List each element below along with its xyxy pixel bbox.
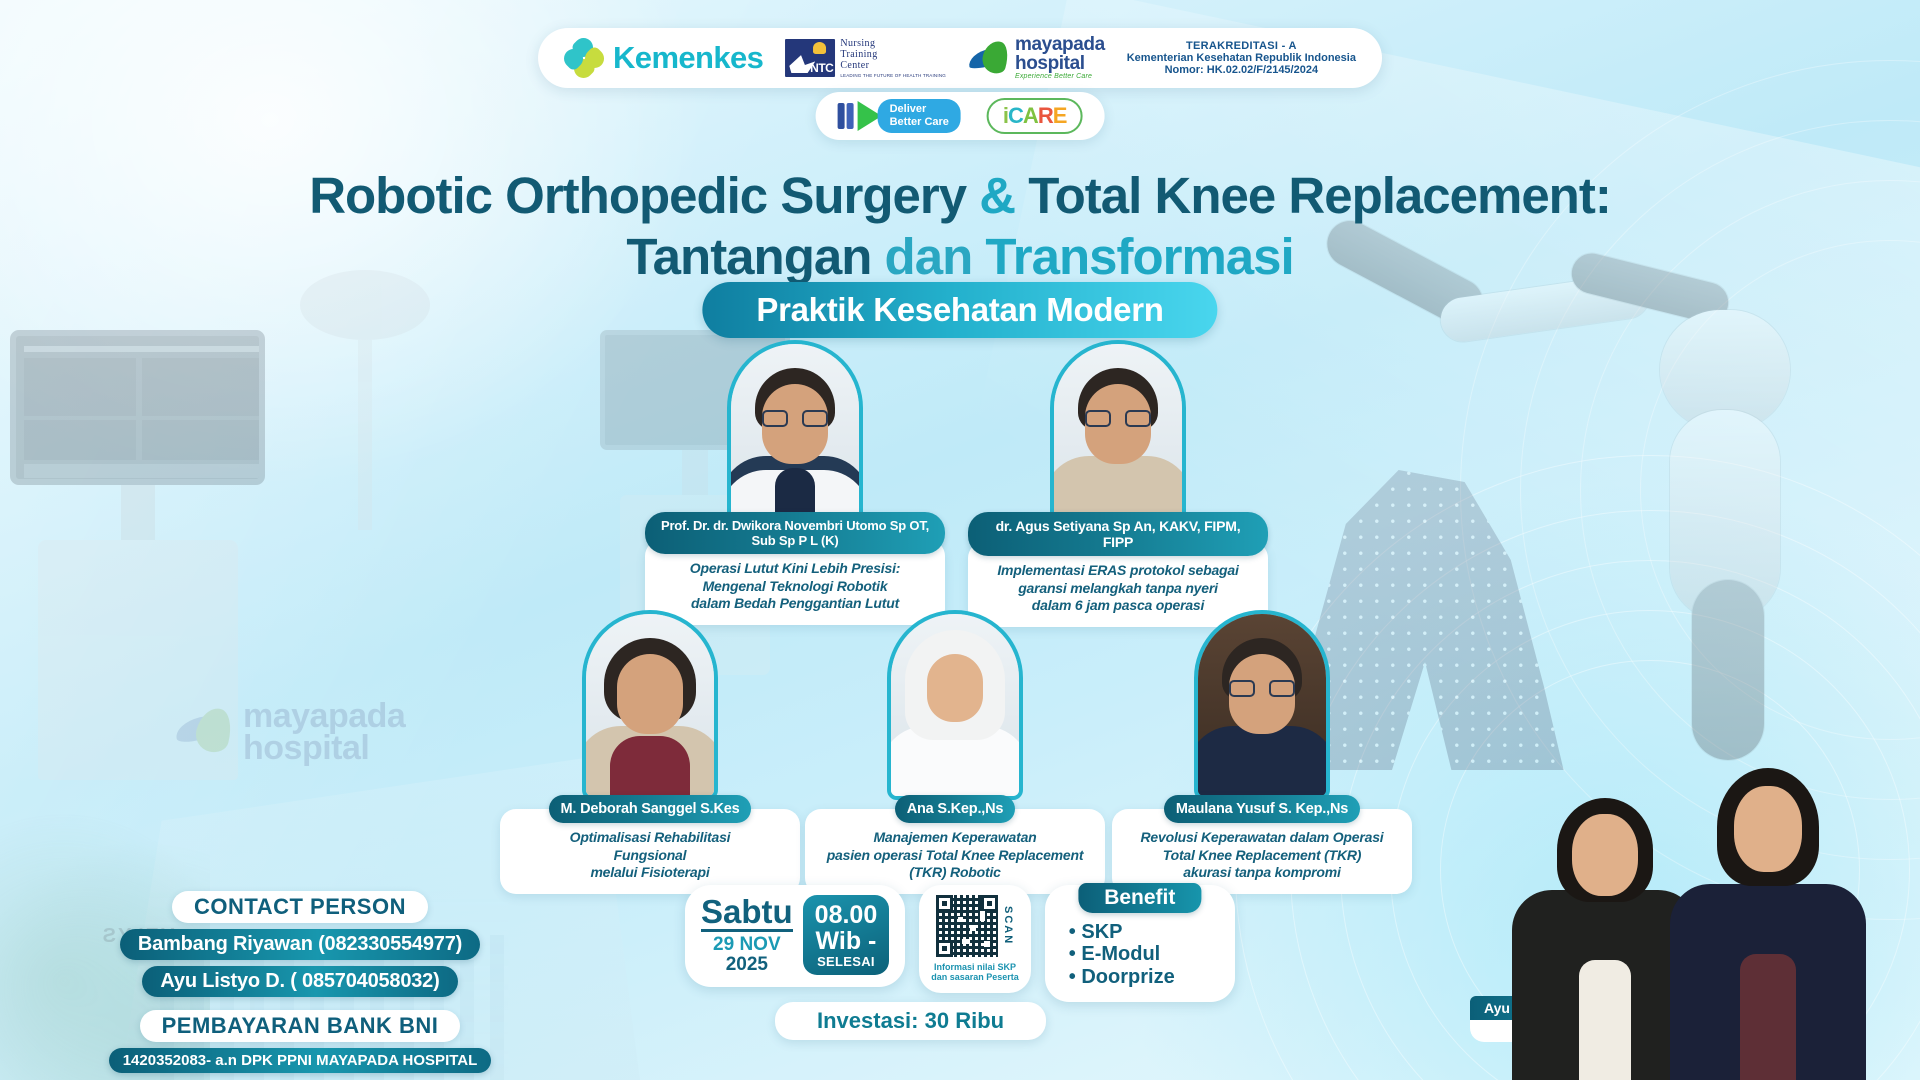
- mayapada-tagline: Experience Better Care: [1015, 73, 1105, 80]
- poster-root: mayapada hospital VELYS: [0, 0, 1920, 1080]
- event-time-start: 08.00: [815, 902, 878, 928]
- qr-row: SCAN: [936, 895, 1014, 957]
- speaker-1-name: Prof. Dr. dr. Dwikora Novembri Utomo Sp …: [645, 512, 945, 554]
- ntc-abbr: NTC: [810, 61, 833, 75]
- speaker-5-topic-line-2: Total Knee Replacement (TKR): [1126, 847, 1398, 865]
- badge-icare: iCARE: [987, 98, 1082, 134]
- event-date-text: Sabtu 29 NOV 2025: [701, 895, 793, 975]
- speaker-4-topic-line-3: (TKR) Robotic: [819, 864, 1091, 882]
- speaker-1-photo: [727, 340, 863, 530]
- accreditation-line-3: Nomor: HK.02.02/F/2145/2024: [1127, 64, 1356, 76]
- kemenkes-clover-icon: [564, 38, 604, 78]
- speaker-4-photo: [887, 610, 1023, 800]
- hosts-section: [1500, 750, 1920, 1080]
- accreditation-block: TERAKREDITASI - A Kementerian Kesehatan …: [1127, 40, 1356, 76]
- qr-scan-label: SCAN: [1002, 906, 1014, 945]
- logo-kemenkes: Kemenkes: [564, 38, 763, 78]
- mayapada-line-1: mayapada: [1015, 36, 1105, 55]
- ntc-crest-icon: NTC: [785, 39, 835, 77]
- speaker-4-topic-line-1: Manajemen Keperawatan: [819, 829, 1091, 847]
- bank-account-number: 1420352083- a.n DPK PPNI MAYAPADA HOSPIT…: [109, 1048, 492, 1073]
- event-time-box: 08.00 Wib - SELESAI: [803, 895, 890, 975]
- payment-heading: PEMBAYARAN BANK BNI: [140, 1010, 461, 1042]
- ntc-line-2: Training: [840, 49, 946, 60]
- mayapada-line-2: hospital: [1015, 55, 1105, 74]
- badge-deliver-better-care: Deliver Better Care: [838, 99, 961, 132]
- speaker-3-topic-line-3: melalui Fisioterapi: [514, 864, 786, 882]
- benefit-item-3: • Doorprize: [1069, 966, 1209, 988]
- qr-card[interactable]: SCAN Informasi nilai SKP dan sasaran Pes…: [919, 885, 1031, 993]
- event-info-block: Sabtu 29 NOV 2025 08.00 Wib - SELESAI: [685, 885, 1235, 1002]
- logo-mayapada-hospital: mayapada hospital Experience Better Care: [968, 36, 1105, 80]
- deliver-bars-icon: [838, 103, 854, 129]
- speaker-3-name: M. Deborah Sanggel S.Kes: [549, 795, 752, 823]
- deliver-line-2: Better Care: [890, 116, 949, 129]
- host-2-photo: [1668, 760, 1868, 1080]
- deliver-better-care-text: Deliver Better Care: [878, 99, 961, 132]
- speaker-2-topic-line-1: Implementasi ERAS protokol sebagai: [982, 562, 1254, 580]
- event-date-card: Sabtu 29 NOV 2025 08.00 Wib - SELESAI: [685, 885, 905, 987]
- event-time-end: SELESAI: [815, 955, 878, 969]
- speaker-4-name: Ana S.Kep.,Ns: [895, 795, 1016, 823]
- header-logo-bar: Kemenkes NTC Nursing Training Center LEA…: [538, 28, 1382, 88]
- qr-caption-line-2: dan sasaran Peserta: [931, 972, 1019, 982]
- speaker-5-photo: [1194, 610, 1330, 800]
- deliver-line-1: Deliver: [890, 103, 949, 116]
- contact-person-1[interactable]: Bambang Riyawan (082330554977): [120, 929, 480, 960]
- investment-pill: Investasi: 30 Ribu: [775, 1002, 1046, 1040]
- speaker-1-topic-line-2: Mengenal Teknologi Robotik: [659, 578, 931, 596]
- speaker-card-4: Ana S.Kep.,Ns Manajemen Keperawatan pasi…: [805, 610, 1105, 894]
- benefit-item-1: • SKP: [1069, 921, 1209, 943]
- mayapada-wordmark: mayapada hospital Experience Better Care: [1015, 36, 1105, 80]
- event-day: Sabtu: [701, 895, 793, 932]
- benefit-card: Benefit • SKP • E-Modul • Doorprize: [1045, 885, 1235, 1002]
- speaker-4-topic-line-2: pasien operasi Total Knee Replacement: [819, 847, 1091, 865]
- speaker-5-topic-line-3: akurasi tanpa kompromi: [1126, 864, 1398, 882]
- ntc-tagline: LEADING THE FUTURE OF HEALTH TRAINING: [840, 73, 946, 78]
- header-badge-bar: Deliver Better Care iCARE: [816, 92, 1105, 140]
- speaker-card-3: M. Deborah Sanggel S.Kes Optimalisasi Re…: [500, 610, 800, 894]
- mayapada-leaf-icon-header: [968, 41, 1008, 75]
- speaker-1-topic-line-1: Operasi Lutut Kini Lebih Presisi:: [659, 560, 931, 578]
- benefit-item-2: • E-Modul: [1069, 943, 1209, 965]
- speaker-2-name: dr. Agus Setiyana Sp An, KAKV, FIPM, FIP…: [968, 512, 1268, 556]
- speaker-2-photo: [1050, 340, 1186, 530]
- speaker-card-5: Maulana Yusuf S. Kep.,Ns Revolusi Kepera…: [1112, 610, 1412, 894]
- contact-section: CONTACT PERSON Bambang Riyawan (08233055…: [90, 888, 510, 1076]
- contact-person-2[interactable]: Ayu Listyo D. ( 085704058032): [142, 966, 457, 997]
- logo-nursing-training-center: NTC Nursing Training Center LEADING THE …: [785, 38, 946, 79]
- speaker-3-photo: [582, 610, 718, 800]
- event-date: 29 NOV: [701, 935, 793, 955]
- kemenkes-wordmark: Kemenkes: [613, 40, 763, 76]
- speaker-3-topic-line-2: Fungsional: [514, 847, 786, 865]
- speaker-card-1: Prof. Dr. dr. Dwikora Novembri Utomo Sp …: [645, 340, 945, 625]
- ntc-wordmark: Nursing Training Center LEADING THE FUTU…: [840, 38, 946, 79]
- ntc-line-3: Center: [840, 60, 946, 71]
- speaker-3-topic-line-1: Optimalisasi Rehabilitasi: [514, 829, 786, 847]
- accreditation-line-2: Kementerian Kesehatan Republik Indonesia: [1127, 52, 1356, 64]
- contact-heading: CONTACT PERSON: [172, 891, 428, 923]
- speaker-5-topic-line-1: Revolusi Keperawatan dalam Operasi: [1126, 829, 1398, 847]
- speaker-card-2: dr. Agus Setiyana Sp An, KAKV, FIPM, FIP…: [968, 340, 1268, 627]
- speaker-5-name: Maulana Yusuf S. Kep.,Ns: [1164, 795, 1360, 823]
- benefit-heading: Benefit: [1078, 883, 1201, 913]
- speaker-2-topic-line-2: garansi melangkah tanpa nyeri: [982, 580, 1254, 598]
- qr-caption-line-1: Informasi nilai SKP: [931, 962, 1019, 972]
- qr-caption: Informasi nilai SKP dan sasaran Peserta: [931, 962, 1019, 983]
- ntc-line-1: Nursing: [840, 38, 946, 49]
- event-time-zone: Wib -: [815, 928, 878, 954]
- event-year: 2025: [701, 955, 793, 975]
- qr-code-icon[interactable]: [936, 895, 998, 957]
- accreditation-line-1: TERAKREDITASI - A: [1127, 40, 1356, 52]
